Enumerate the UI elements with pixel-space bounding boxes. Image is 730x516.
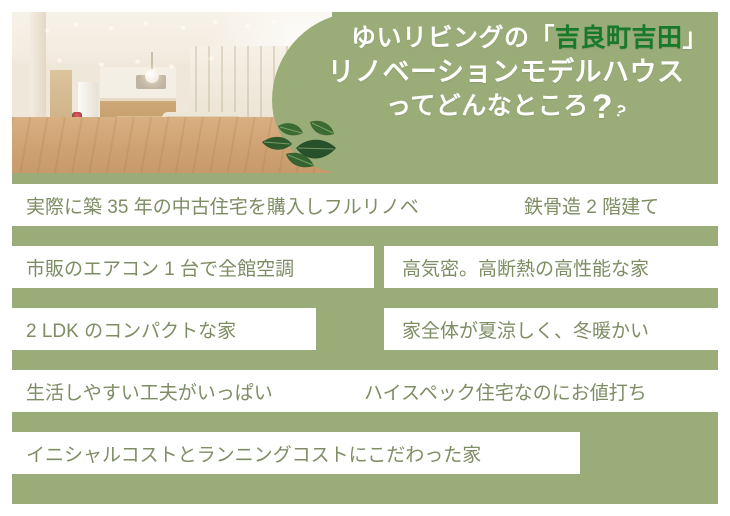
- ceiling-light-icon: [72, 22, 79, 27]
- feature-tag-row: 生活しやすい工夫がいっぱいハイスペック住宅なのにお値打ち: [12, 370, 718, 412]
- ceiling-light-icon: [168, 64, 175, 69]
- ceiling-light-icon: [44, 28, 51, 33]
- ceiling-light-icon: [108, 26, 115, 31]
- feature-tag: 鉄骨造 2 階建て: [506, 184, 718, 226]
- question-mark-large-icon: ?: [592, 92, 613, 123]
- feature-tag-row: 実際に築 35 年の中古住宅を購入しフルリノベ鉄骨造 2 階建て: [12, 184, 718, 226]
- ceiling-light-icon: [208, 56, 215, 61]
- ceiling-light-icon: [270, 19, 277, 24]
- headline-line-2: リノベーションモデルハウス: [300, 55, 712, 90]
- ceiling-light-icon: [98, 62, 105, 67]
- ceiling-light-icon: [142, 21, 149, 26]
- headline: ゆいリビングの「吉良町吉田」 リノベーションモデルハウス ってどんなところ ? …: [300, 22, 712, 122]
- poster-root: ゆいリビングの「吉良町吉田」 リノベーションモデルハウス ってどんなところ ? …: [0, 0, 730, 516]
- feature-tag-list: 実際に築 35 年の中古住宅を購入しフルリノベ鉄骨造 2 階建て市販のエアコン …: [12, 184, 718, 492]
- pendant-lamp-icon: [151, 52, 153, 70]
- feature-tag: イニシャルコストとランニングコストにこだわった家: [12, 432, 580, 474]
- feature-tag: 生活しやすい工夫がいっぱい: [12, 370, 360, 412]
- feature-tag: ハイスペック住宅なのにお値打ち: [346, 370, 718, 412]
- feature-tag: 家全体が夏涼しく、冬暖かい: [384, 308, 718, 350]
- question-mark-small-icon: ?: [612, 102, 628, 122]
- feature-tag: 市販のエアコン 1 台で全館空調: [12, 246, 374, 288]
- feature-tag: 2 LDK のコンパクトな家: [12, 308, 316, 350]
- feature-tag: 実際に築 35 年の中古住宅を購入しフルリノベ: [12, 184, 510, 226]
- bracket-open: 「: [529, 24, 555, 52]
- ceiling-light-icon: [212, 20, 219, 25]
- ceiling-light-icon: [56, 58, 63, 63]
- ceiling-light-icon: [244, 24, 251, 29]
- headline-line-3: ってどんなところ ? ?: [300, 90, 712, 123]
- feature-tag-row: 市販のエアコン 1 台で全館空調高気密。高断熱の高性能な家: [12, 246, 718, 288]
- ceiling-light-icon: [134, 59, 141, 64]
- feature-tag-row: 2 LDK のコンパクトな家家全体が夏涼しく、冬暖かい: [12, 308, 718, 350]
- headline-question-text: ってどんなところ: [386, 90, 589, 123]
- place-name: 吉良町吉田: [555, 24, 683, 52]
- feature-tag-row: イニシャルコストとランニングコストにこだわった家: [12, 432, 718, 474]
- bracket-close: 」: [682, 24, 708, 52]
- ceiling-light-icon: [180, 25, 187, 30]
- feature-tag: 高気密。高断熱の高性能な家: [384, 246, 718, 288]
- headline-prefix: ゆいリビングの: [351, 24, 530, 52]
- headline-line-1: ゆいリビングの「吉良町吉田」: [300, 22, 712, 55]
